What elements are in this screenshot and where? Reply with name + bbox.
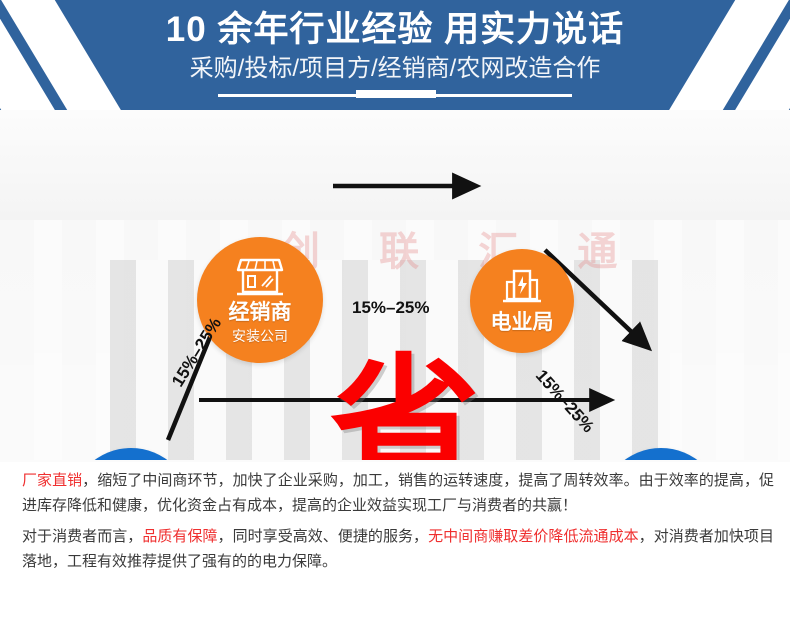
arrow-label-dealer-to-bureau: 15%–25% xyxy=(352,298,430,318)
banner-title: 10 余年行业经验 用实力说话 xyxy=(0,8,790,52)
banner-divider-center xyxy=(356,90,436,98)
paragraph-1-rest: ，缩短了中间商环节，加快了企业采购，加工，销售的运转速度，提高了周转效率。由于效… xyxy=(22,472,774,514)
node-bureau[interactable]: 电业局 xyxy=(470,249,574,353)
paragraph-2-mid: ，同时享受高效、便捷的服务， xyxy=(218,528,429,545)
paragraph-2: 对于消费者而言，品质有保障，同时享受高效、便捷的服务，无中间商赚取差价降低流通成… xyxy=(22,524,774,574)
storefront-icon xyxy=(235,256,285,301)
paragraph-2-highlight-1: 品质有保障 xyxy=(142,528,217,545)
description-block: 厂家直销，缩短了中间商环节，加快了企业采购，加工，销售的运转速度，提高了周转效率… xyxy=(0,462,790,619)
node-dealer[interactable]: 经销商 安装公司 xyxy=(197,237,323,363)
background-photo-sky xyxy=(0,110,790,220)
paragraph-2-highlight-2: 无中间商赚取差价降低流通成本 xyxy=(428,528,639,545)
promo-banner-page: 10 余年行业经验 用实力说话 采购/投标/项目方/经销商/农网改造合作 创 联… xyxy=(0,0,790,619)
node-bureau-title: 电业局 xyxy=(491,311,554,335)
power-building-icon xyxy=(500,268,544,311)
flow-diagram: 创 联 汇 通 省 xyxy=(0,110,790,460)
paragraph-2-lead: 对于消费者而言， xyxy=(22,528,142,545)
header-banner: 10 余年行业经验 用实力说话 采购/投标/项目方/经销商/农网改造合作 xyxy=(0,0,790,110)
node-dealer-subtitle: 安装公司 xyxy=(232,327,288,345)
center-word-sheng: 省 xyxy=(330,352,480,460)
paragraph-1-highlight: 厂家直销 xyxy=(22,472,82,489)
banner-subtitle: 采购/投标/项目方/经销商/农网改造合作 xyxy=(0,54,790,84)
watermark-text: 创 联 汇 通 xyxy=(280,230,620,274)
paragraph-1: 厂家直销，缩短了中间商环节，加快了企业采购，加工，销售的运转速度，提高了周转效率… xyxy=(22,468,774,518)
node-dealer-title: 经销商 xyxy=(229,301,292,325)
